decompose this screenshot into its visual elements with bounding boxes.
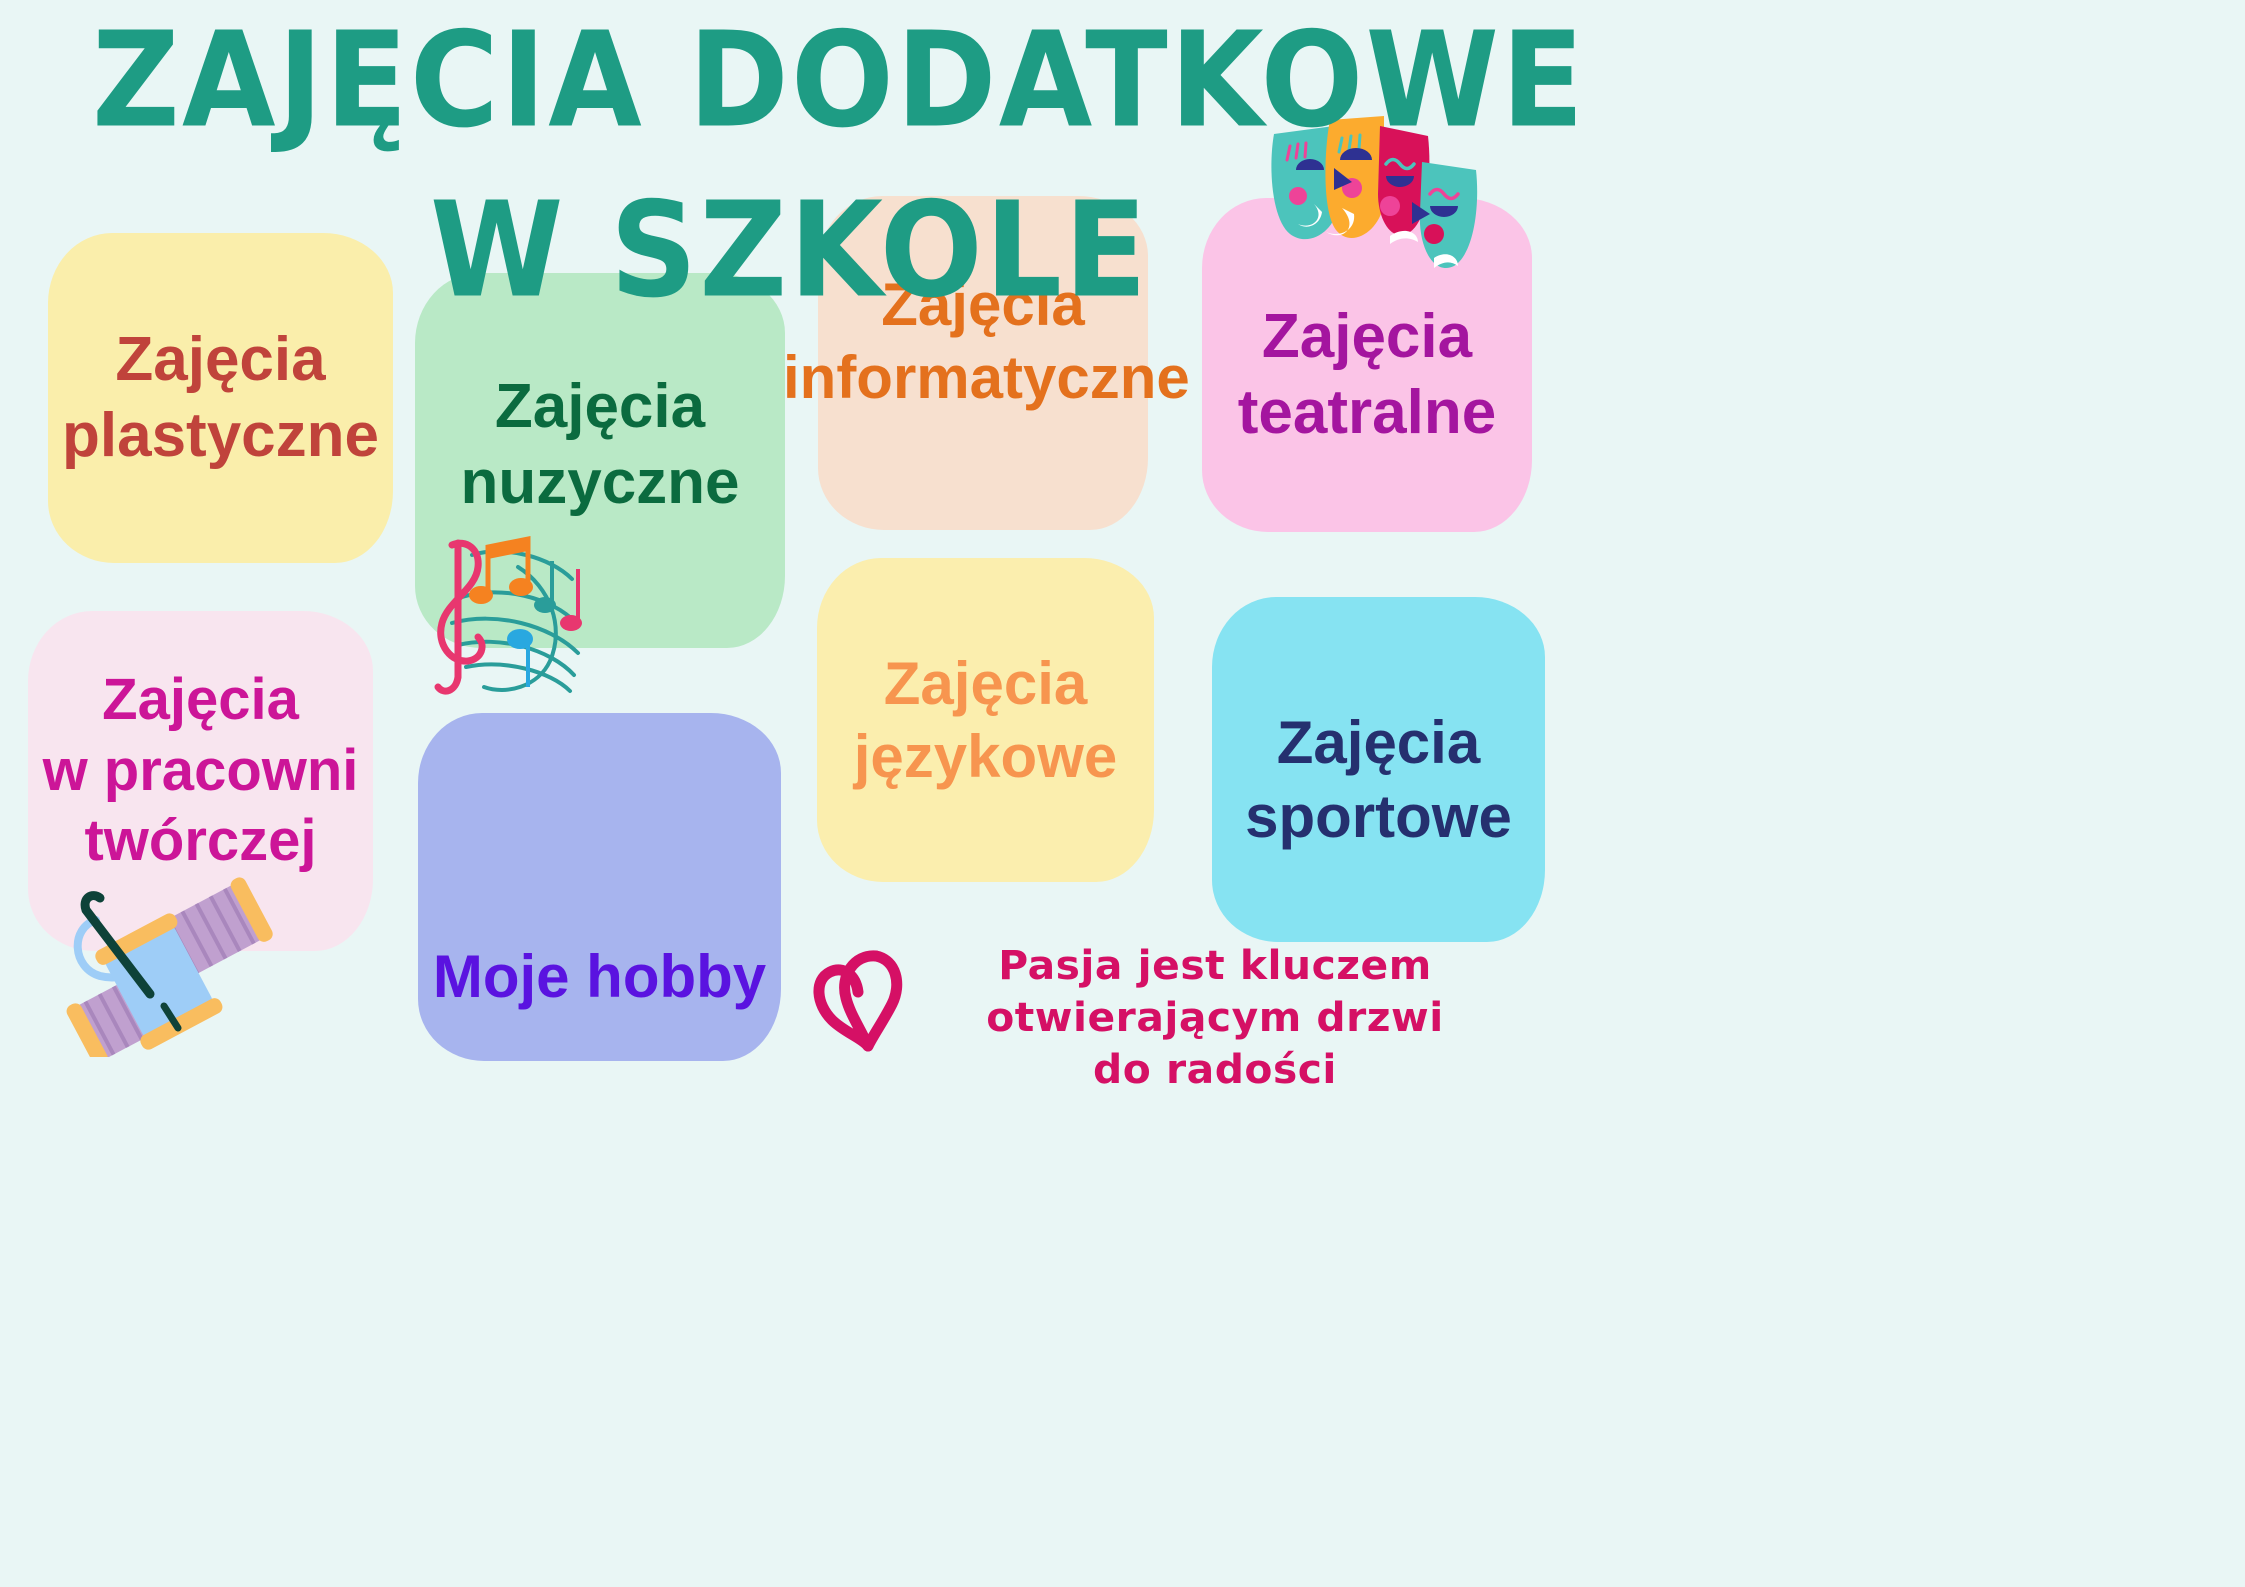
title-line-1: Zajęcia dodatkowe — [92, 6, 1579, 158]
card-teatralne[interactable]: Zajęcia teatralne — [1202, 198, 1532, 532]
card-informatyczne[interactable]: Zajęcia informatyczne — [818, 196, 1148, 530]
card-label-pracowni: Zajęcia w pracowni twórczej — [34, 665, 367, 877]
card-jezykowe[interactable]: Zajęcia językowe — [817, 558, 1154, 882]
card-plastyczne[interactable]: Zajęcia plastyczne — [48, 233, 393, 563]
card-label-teatralne: Zajęcia teatralne — [1208, 299, 1526, 450]
card-label-informatyczne: Zajęcia informatyczne — [783, 268, 1183, 414]
card-muzyczne[interactable]: Zajęcia nuzyczne — [415, 273, 785, 648]
card-label-plastyczne: Zajęcia plastyczne — [62, 322, 379, 473]
card-label-sportowe: Zajęcia sportowe — [1245, 706, 1512, 852]
card-label-hobby: Moje hobby — [433, 940, 766, 1013]
card-label-jezykowe: Zajęcia językowe — [854, 647, 1117, 793]
quote-text: Pasja jest kluczem otwierającym drzwi do… — [945, 940, 1486, 1096]
card-label-muzyczne: Zajęcia nuzyczne — [460, 369, 739, 520]
poster-canvas: Zajęcia dodatkowe w szkole Zajęcia plast… — [0, 0, 2245, 1587]
card-moje-hobby[interactable]: Moje hobby — [418, 713, 781, 1061]
card-pracowni-tworczej[interactable]: Zajęcia w pracowni twórczej — [28, 611, 373, 951]
heart-outline-icon — [810, 946, 915, 1061]
card-sportowe[interactable]: Zajęcia sportowe — [1212, 597, 1545, 942]
